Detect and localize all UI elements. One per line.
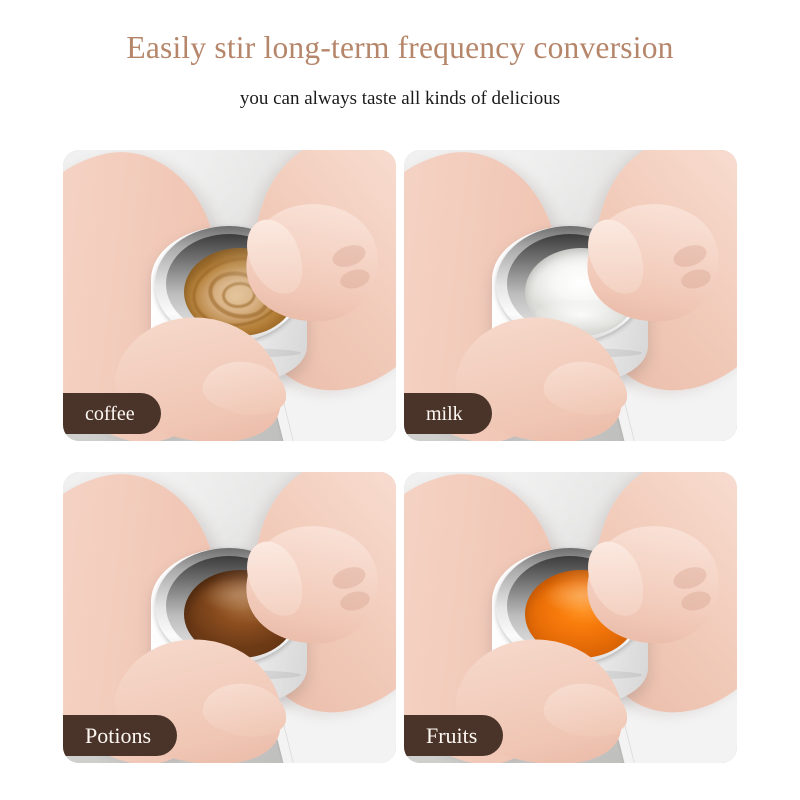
flavor-card-potions[interactable]: Potions bbox=[63, 472, 396, 763]
promo-page: Easily stir long-term frequency conversi… bbox=[0, 0, 800, 800]
header: Easily stir long-term frequency conversi… bbox=[0, 0, 800, 111]
page-title: Easily stir long-term frequency conversi… bbox=[0, 30, 800, 66]
flavor-card-grid: coffee bbox=[63, 150, 737, 763]
flavor-label-fruits: Fruits bbox=[404, 715, 503, 756]
flavor-label-milk: milk bbox=[404, 393, 492, 434]
flavor-label-coffee: coffee bbox=[63, 393, 161, 434]
page-subtitle: you can always taste all kinds of delici… bbox=[0, 88, 800, 111]
flavor-card-coffee[interactable]: coffee bbox=[63, 150, 396, 441]
flavor-card-fruits[interactable]: Fruits bbox=[404, 472, 737, 763]
flavor-label-potions: Potions bbox=[63, 715, 177, 756]
flavor-card-milk[interactable]: milk bbox=[404, 150, 737, 441]
